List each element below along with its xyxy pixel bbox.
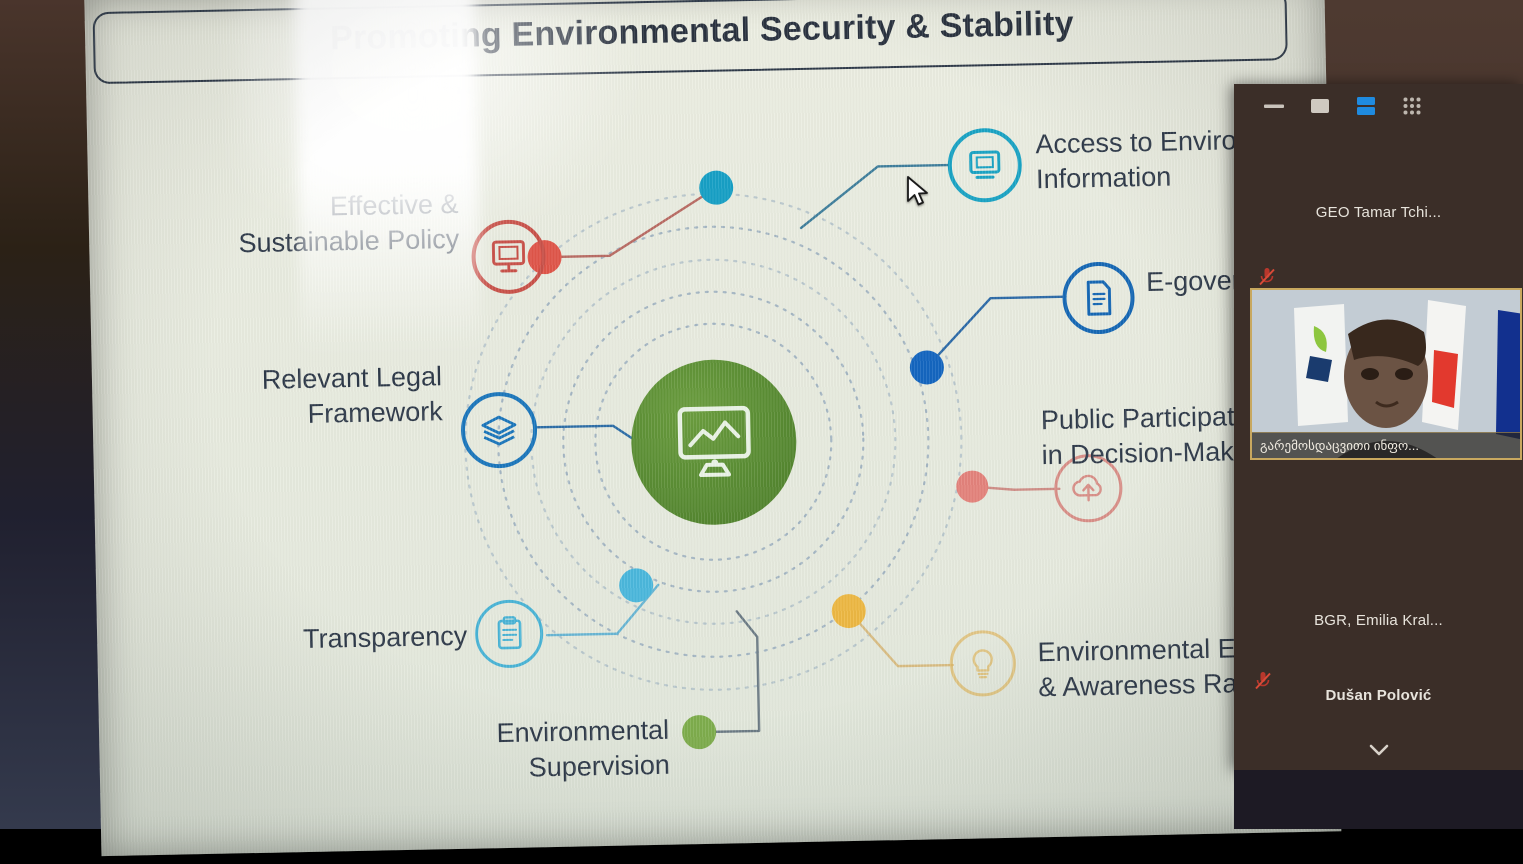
monitor-chart-icon <box>671 401 757 483</box>
label-transparency: Transparency <box>107 619 468 661</box>
panel-bottom-strip <box>1234 770 1523 829</box>
grid-view-icon[interactable] <box>1400 96 1424 116</box>
cloud-upload-icon <box>1069 471 1108 506</box>
maximize-icon[interactable] <box>1308 96 1332 116</box>
projection-screen-area: Promoting Environmental Security & Stabi… <box>0 0 1337 864</box>
clipboard-icon <box>491 615 528 654</box>
idea-circle-icon <box>966 646 999 681</box>
hub-and-spoke-diagram: .orb{fill:none;stroke:#8fa6bb;stroke-wid… <box>86 59 1341 854</box>
orbit-dot-supervision <box>682 715 717 750</box>
microphone-muted-icon <box>1258 268 1276 286</box>
orbit-dot-participation <box>956 470 989 503</box>
participant-name: GEO Tamar Tchi... <box>1234 204 1523 221</box>
projected-slide: Promoting Environmental Security & Stabi… <box>84 0 1341 856</box>
orbit-dot-access-info <box>699 170 734 205</box>
video-panel-toolbar[interactable] <box>1234 84 1523 128</box>
arrow-cursor-icon <box>905 175 931 209</box>
label-environmental-supervision: Environmental Supervision <box>249 713 670 791</box>
monitor-icon <box>964 146 1005 185</box>
label-relevant-legal-framework: Relevant Legal Framework <box>102 359 443 435</box>
label-effective-sustainable-policy: Effective & Sustainable Policy <box>98 187 459 263</box>
participant-tile[interactable]: Dušan Polović <box>1234 644 1523 770</box>
split-view-layout-icon[interactable] <box>1354 96 1378 116</box>
document-icon <box>1080 278 1117 319</box>
participant-name: BGR, Emilia Kral... <box>1234 612 1523 629</box>
layers-icon <box>478 411 521 450</box>
monitor-icon <box>488 237 529 276</box>
chevron-down-icon[interactable] <box>1234 742 1523 758</box>
speaker-caption: გარემოსდაცვითი ინფო... <box>1252 432 1520 458</box>
participant-tile[interactable]: GEO Tamar Tchi... <box>1234 128 1523 294</box>
active-speaker-tile[interactable]: გარემოსდაცვითი ინფო... <box>1250 288 1522 460</box>
minimize-icon[interactable] <box>1262 96 1286 116</box>
participant-name: Dušan Polović <box>1234 687 1523 704</box>
